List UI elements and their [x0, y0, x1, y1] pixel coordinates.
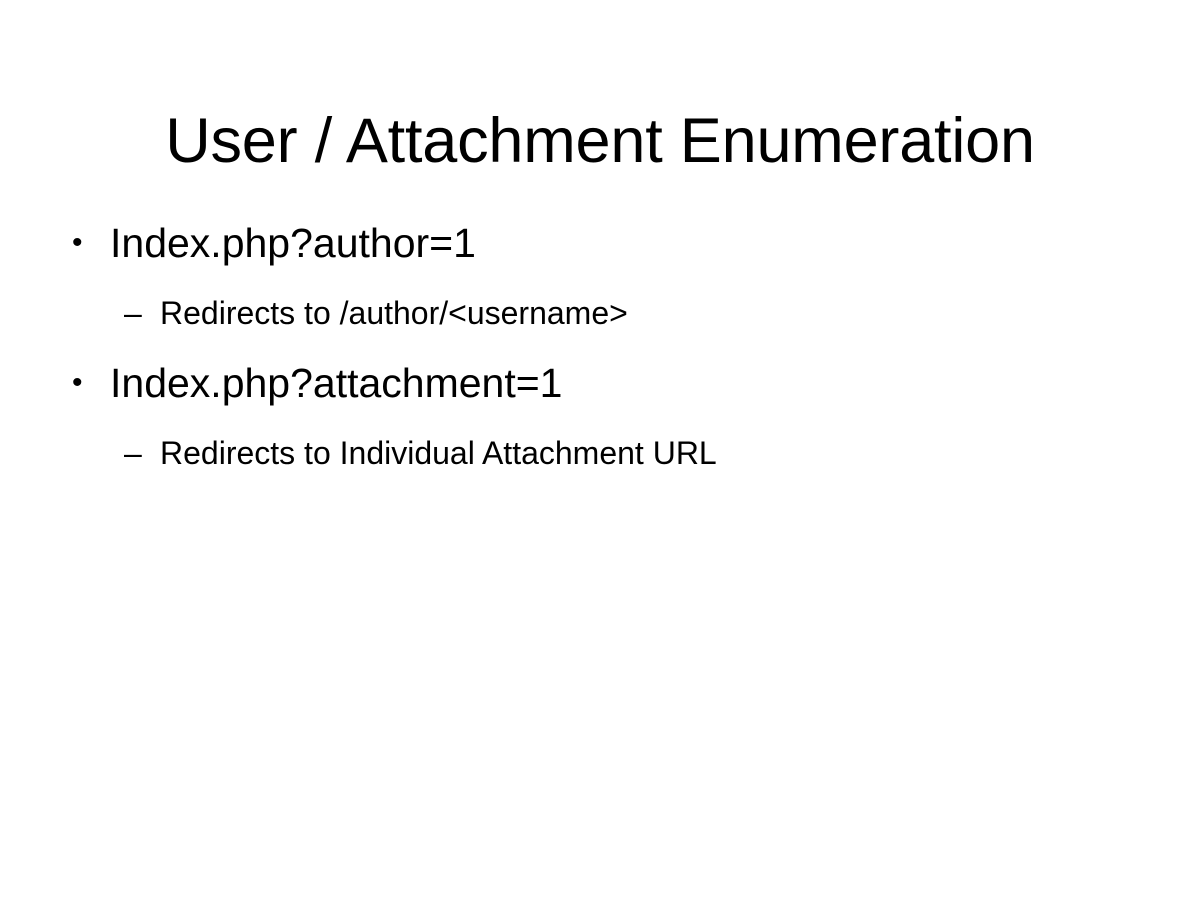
- slide-body: • Index.php?author=1 – Redirects to /aut…: [0, 208, 1200, 488]
- bullet-text: Index.php?author=1: [110, 220, 476, 266]
- sub-bullet-list: – Redirects to /author/<username>: [0, 278, 1200, 348]
- bullet-item-level2: – Redirects to /author/<username>: [0, 278, 1200, 348]
- bullet-text: Index.php?attachment=1: [110, 360, 562, 406]
- bullet-item-level1: • Index.php?author=1: [0, 208, 1200, 278]
- bullet-list: • Index.php?author=1 – Redirects to /aut…: [0, 208, 1200, 488]
- bullet-item-level2: – Redirects to Individual Attachment URL: [0, 418, 1200, 488]
- slide-title: User / Attachment Enumeration: [0, 104, 1200, 178]
- bullet-marker-icon: •: [72, 348, 96, 418]
- sub-bullet-list: – Redirects to Individual Attachment URL: [0, 418, 1200, 488]
- dash-marker-icon: –: [124, 278, 150, 348]
- presentation-slide: User / Attachment Enumeration • Index.ph…: [0, 0, 1200, 899]
- bullet-item-level1: • Index.php?attachment=1: [0, 348, 1200, 418]
- dash-marker-icon: –: [124, 418, 150, 488]
- sub-bullet-text: Redirects to /author/<username>: [160, 295, 628, 331]
- bullet-marker-icon: •: [72, 208, 96, 278]
- sub-bullet-text: Redirects to Individual Attachment URL: [160, 435, 717, 471]
